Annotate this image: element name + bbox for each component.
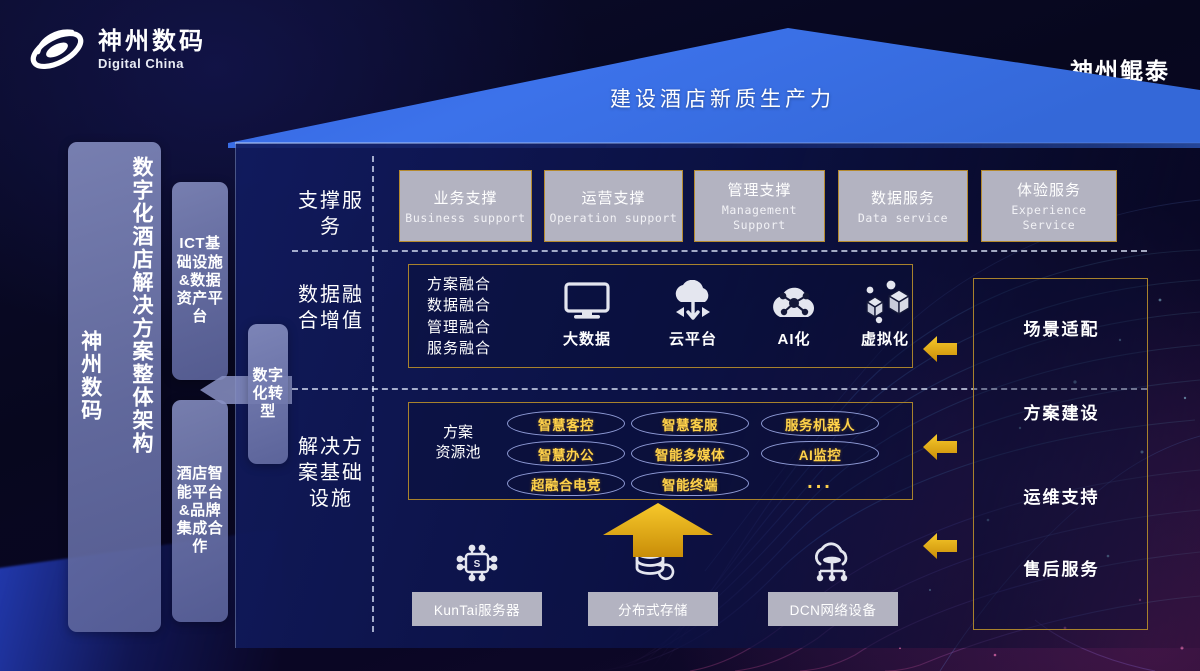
fusion-item-bigdata[interactable]: 大数据 xyxy=(535,279,639,349)
row-divider-support xyxy=(292,250,1147,252)
infra-item-server[interactable]: S KunTai服务器 xyxy=(412,540,542,626)
digital-china-swoosh-icon xyxy=(28,24,86,76)
fusion-item-ai[interactable]: AI化 xyxy=(742,279,846,349)
support-card-operation[interactable]: 运营支撑 Operation support xyxy=(544,170,683,242)
support-card-business[interactable]: 业务支撑 Business support xyxy=(399,170,532,242)
fusion-item-ai-label: AI化 xyxy=(742,328,846,349)
support-card-experience-cn: 体验服务 xyxy=(1017,179,1081,200)
support-card-business-en: Business support xyxy=(405,211,525,226)
row-label-solution: 解决方案基础设施 xyxy=(288,434,374,512)
infra-item-server-label: KunTai服务器 xyxy=(412,592,542,626)
pool-item-2-3[interactable]: 智能终端 xyxy=(631,471,749,496)
support-card-business-cn: 业务支撑 xyxy=(433,187,497,208)
sidebar-panel-ict[interactable]: ICT基础设施&数据资产平台 xyxy=(172,182,228,380)
sidebar-panel-transform-label: 数字化转型 xyxy=(248,324,288,464)
main-title-primary: 数字化酒店解决方案整体架构 xyxy=(128,156,153,616)
row-label-support: 支撑服务 xyxy=(288,188,374,240)
gold-left-arrow-2 xyxy=(923,434,957,460)
pool-item-2-2[interactable]: 智能多媒体 xyxy=(631,441,749,466)
gold-up-arrow xyxy=(603,503,713,557)
fusion-list-text: 方案融合数据融合管理融合服务融合 xyxy=(427,274,491,359)
pool-item-2-2-label: 智能多媒体 xyxy=(655,444,725,464)
pool-item-3-1-label: 服务机器人 xyxy=(785,414,855,434)
sidebar-panel-transform[interactable]: 数字化转型 xyxy=(248,324,288,464)
fusion-item-cloud-label: 云平台 xyxy=(641,328,745,349)
house-top-edge xyxy=(235,142,1200,144)
cubes-icon xyxy=(833,279,937,325)
gold-left-arrow-3 xyxy=(923,533,957,559)
service-item-solution[interactable]: 方案建设 xyxy=(974,399,1149,424)
fusion-item-virtualization-label: 虚拟化 xyxy=(833,328,937,349)
sidebar-panel-hotel-label: 酒店智能平台&品牌集成合作 xyxy=(172,400,228,622)
pool-item-2-1-label: 智慧客服 xyxy=(662,414,718,434)
sidebar-panel-ict-label: ICT基础设施&数据资产平台 xyxy=(172,182,228,380)
support-card-management-cn: 管理支撑 xyxy=(727,179,791,200)
logo-text-english: Digital China xyxy=(98,56,206,71)
infra-item-storage-label: 分布式存储 xyxy=(588,592,718,626)
pool-item-1-3-label: 超融合电竞 xyxy=(531,474,601,494)
infra-item-network-label: DCN网络设备 xyxy=(768,592,898,626)
infra-item-network[interactable]: DCN网络设备 xyxy=(768,540,898,626)
cloud-arrows-icon xyxy=(641,279,745,325)
support-card-operation-en: Operation support xyxy=(550,211,678,226)
monitor-icon xyxy=(535,279,639,325)
solution-pool-box: 方案资源池 智慧客控 智慧办公 超融合电竞 智慧客服 智能多媒体 智能终端 服务… xyxy=(408,402,913,500)
data-fusion-box: 方案融合数据融合管理融合服务融合 大数据 云平台 xyxy=(408,264,913,368)
pool-item-1-1-label: 智慧客控 xyxy=(538,414,594,434)
fusion-item-cloud[interactable]: 云平台 xyxy=(641,279,745,349)
pool-item-2-3-label: 智能终端 xyxy=(662,474,718,494)
pool-item-3-1[interactable]: 服务机器人 xyxy=(761,411,879,436)
gold-left-arrow-1 xyxy=(923,336,957,362)
pool-item-2-1[interactable]: 智慧客服 xyxy=(631,411,749,436)
support-card-operation-cn: 运营支撑 xyxy=(581,187,645,208)
support-card-management-en: ManagementSupport xyxy=(722,203,797,232)
solution-pool-label: 方案资源池 xyxy=(421,423,495,464)
svg-text:S: S xyxy=(474,559,481,570)
fusion-item-virtualization[interactable]: 虚拟化 xyxy=(833,279,937,349)
main-title-panel: 数字化酒店解决方案整体架构 神州数码 xyxy=(68,142,161,632)
support-card-experience-en: ExperienceService xyxy=(1011,203,1086,232)
logo-text-chinese: 神州数码 xyxy=(98,29,206,54)
pool-item-1-1[interactable]: 智慧客控 xyxy=(507,411,625,436)
support-card-data-en: Data service xyxy=(858,211,948,226)
support-card-data-cn: 数据服务 xyxy=(871,187,935,208)
main-title-secondary: 神州数码 xyxy=(77,330,102,422)
pool-item-3-3-ellipsis: ... xyxy=(761,471,879,494)
pool-item-1-2[interactable]: 智慧办公 xyxy=(507,441,625,466)
cloud-ai-nodes-icon xyxy=(742,279,846,325)
pool-item-1-3[interactable]: 超融合电竞 xyxy=(507,471,625,496)
row-label-fusion: 数据融合增值 xyxy=(288,282,374,334)
pool-item-3-2-label: AI监控 xyxy=(799,444,842,464)
support-card-experience[interactable]: 体验服务 ExperienceService xyxy=(981,170,1117,242)
service-item-aftersale[interactable]: 售后服务 xyxy=(974,555,1149,580)
slide-canvas: 神州数码 Digital China K TAI 神州鲲泰 建设酒店新质生产力 xyxy=(0,0,1200,671)
cloud-network-icon xyxy=(768,540,898,586)
fusion-item-bigdata-label: 大数据 xyxy=(535,328,639,349)
server-chip-icon: S xyxy=(412,540,542,586)
support-card-management[interactable]: 管理支撑 ManagementSupport xyxy=(694,170,825,242)
pool-item-3-2[interactable]: AI监控 xyxy=(761,441,879,466)
digital-china-logo: 神州数码 Digital China xyxy=(28,24,206,76)
service-item-scene[interactable]: 场景适配 xyxy=(974,315,1149,340)
sidebar-panel-hotel[interactable]: 酒店智能平台&品牌集成合作 xyxy=(172,400,228,622)
roof-title: 建设酒店新质生产力 xyxy=(610,83,835,113)
service-item-ops[interactable]: 运维支持 xyxy=(974,483,1149,508)
pool-item-1-2-label: 智慧办公 xyxy=(538,444,594,464)
support-card-data[interactable]: 数据服务 Data service xyxy=(838,170,968,242)
right-services-box: 场景适配 方案建设 运维支持 售后服务 xyxy=(973,278,1148,630)
